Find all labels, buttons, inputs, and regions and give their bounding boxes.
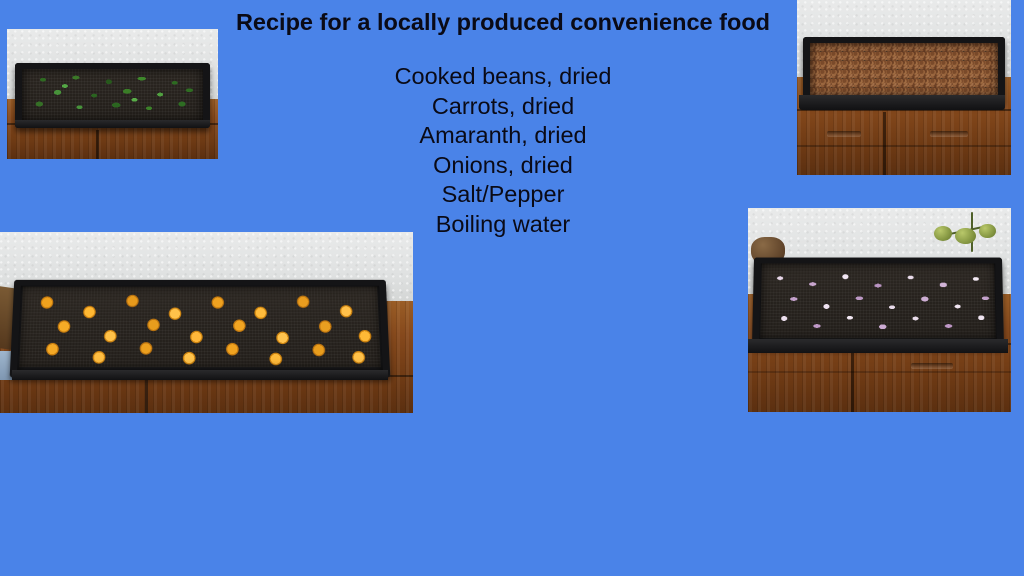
drying-tray [10, 280, 390, 377]
ingredient-item: Carrots, dried [222, 92, 784, 122]
page-title: Recipe for a locally produced convenienc… [222, 8, 784, 37]
drawer-handle-left [827, 131, 861, 136]
photo-amaranth-drying [7, 29, 218, 159]
drying-tray [15, 63, 209, 128]
slide-text-block: Recipe for a locally produced convenienc… [222, 8, 784, 239]
photo-beans-drying [797, 0, 1011, 175]
tray-rim [10, 280, 390, 377]
drying-tray [752, 257, 1004, 346]
tray-front-edge [799, 95, 1004, 111]
photo-onions-drying [748, 208, 1011, 412]
ingredient-list: Cooked beans, dried Carrots, dried Amara… [222, 62, 784, 239]
ingredient-item: Cooked beans, dried [222, 62, 784, 92]
drawer-gap [851, 347, 854, 412]
photo-carrots-drying [0, 232, 413, 413]
drawer-handle [911, 363, 953, 368]
tray-front-edge [748, 339, 1008, 353]
drawer-gap [145, 380, 148, 413]
drawer-gap [96, 130, 99, 159]
tray-front-edge [15, 120, 209, 128]
ingredient-item: Salt/Pepper [222, 180, 784, 210]
drawer-handle-right [930, 131, 969, 136]
cabinet-panel-line [748, 371, 1011, 373]
presentation-slide: Recipe for a locally produced convenienc… [0, 0, 1024, 576]
tray-rim [752, 257, 1004, 346]
ingredient-item: Onions, dried [222, 151, 784, 181]
tray-rim [15, 63, 209, 128]
tray-front-edge [12, 370, 388, 381]
tray-rim [803, 37, 1004, 104]
drying-tray [803, 37, 1004, 104]
drawer-gap [883, 112, 886, 175]
ingredient-item: Boiling water [222, 210, 784, 240]
ingredient-item: Amaranth, dried [222, 121, 784, 151]
dresser-drawer-line [797, 145, 1011, 147]
